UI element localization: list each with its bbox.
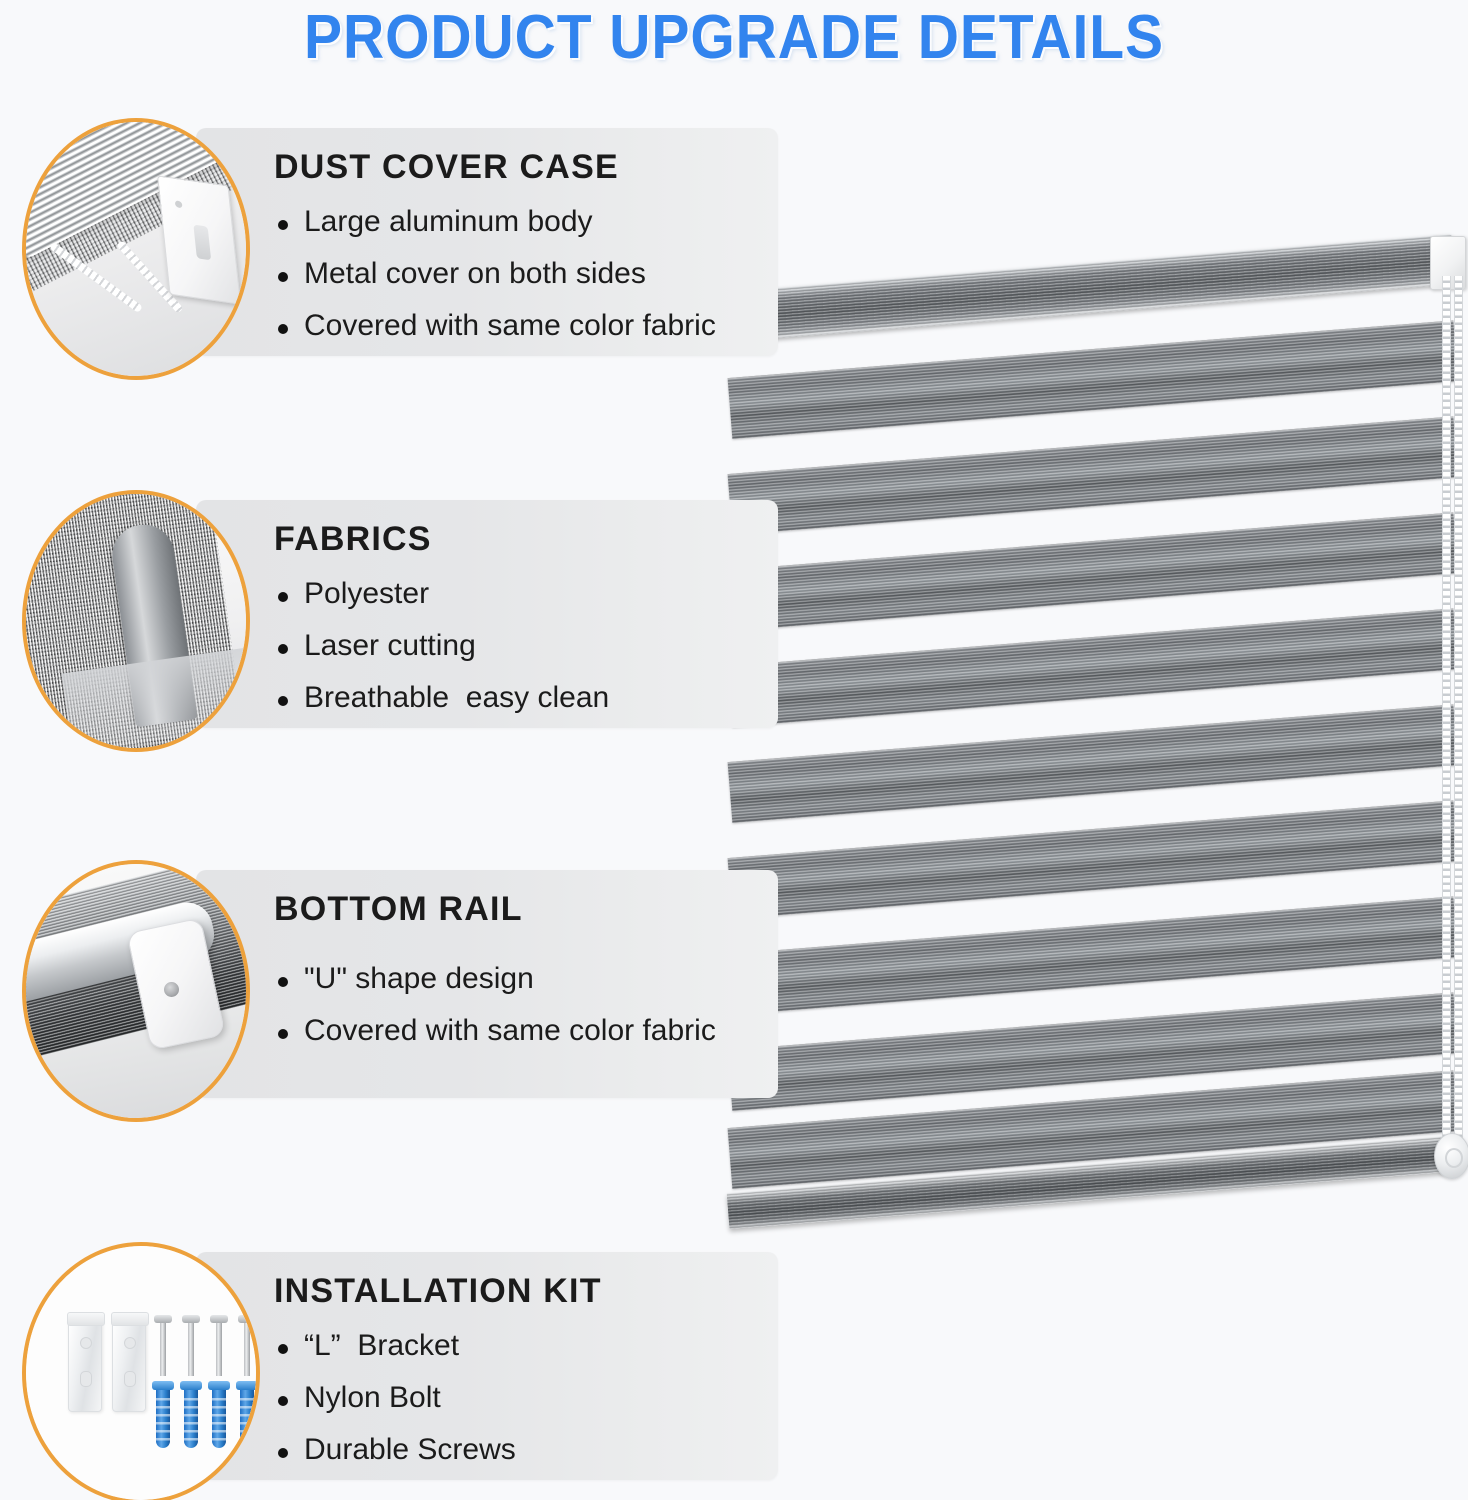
blind-headrail: [724, 234, 1456, 342]
installation-kit-photo: [22, 1242, 260, 1500]
blind-slat: [728, 608, 1459, 727]
nylon-bolt-icon: [212, 1386, 226, 1448]
feature-bullet-list: "U" shape design Covered with same color…: [274, 962, 716, 1066]
blind-slat: [728, 704, 1459, 823]
bullet-item: “L” Bracket: [274, 1329, 516, 1363]
bullet-item: Metal cover on both sides: [274, 257, 716, 291]
screw-icon: [164, 982, 179, 997]
screw-icon: [160, 1320, 166, 1376]
page-title: PRODUCT UPGRADE DETAILS: [59, 2, 1410, 73]
bullet-item: "U" shape design: [274, 962, 716, 996]
bullet-item: Large aluminum body: [274, 205, 716, 239]
feature-title: INSTALLATION KIT: [274, 1272, 602, 1311]
blind-slat: [728, 416, 1459, 535]
bullet-item: Nylon Bolt: [274, 1381, 516, 1415]
screw-icon: [244, 1320, 250, 1376]
l-bracket-icon: [112, 1318, 146, 1412]
nylon-bolt-icon: [184, 1386, 198, 1448]
bullet-item: Laser cutting: [274, 629, 609, 663]
screw-icon: [216, 1320, 222, 1376]
end-cap: [157, 175, 241, 304]
blind-slat: [728, 512, 1459, 631]
chain-tensioner[interactable]: [1434, 1133, 1468, 1179]
bracket-top: [67, 1312, 105, 1326]
zebra-roller-blind: [718, 228, 1468, 1253]
bead-chain[interactable]: [1442, 276, 1451, 1156]
screw-icon: [188, 1320, 194, 1376]
feature-title: FABRICS: [274, 520, 432, 559]
dust-cover-case-photo: [22, 118, 250, 380]
bullet-item: Polyester: [274, 577, 609, 611]
blind-slat: [728, 800, 1459, 919]
feature-bullet-list: Large aluminum body Metal cover on both …: [274, 205, 716, 361]
nylon-bolt-icon: [240, 1386, 254, 1448]
bullet-item: Covered with same color fabric: [274, 1014, 716, 1048]
feature-title: BOTTOM RAIL: [274, 890, 523, 929]
bottom-rail-photo: [22, 860, 250, 1122]
feature-title: DUST COVER CASE: [274, 148, 619, 187]
bullet-item: Covered with same color fabric: [274, 309, 716, 343]
blind-slat: [728, 896, 1459, 1015]
feature-bullet-list: “L” Bracket Nylon Bolt Durable Screws: [274, 1329, 516, 1485]
nylon-bolt-icon: [156, 1386, 170, 1448]
bead-chain[interactable]: [1454, 276, 1463, 1156]
fabrics-photo: [22, 490, 250, 752]
bracket-top: [111, 1312, 149, 1326]
bullet-item: Durable Screws: [274, 1433, 516, 1467]
bullet-item: Breathable easy clean: [274, 681, 609, 715]
feature-bullet-list: Polyester Laser cutting Breathable easy …: [274, 577, 609, 733]
l-bracket-icon: [68, 1318, 102, 1412]
blind-slat: [728, 320, 1459, 439]
infographic-root: PRODUCT UPGRADE DETAILS: [0, 0, 1468, 1500]
